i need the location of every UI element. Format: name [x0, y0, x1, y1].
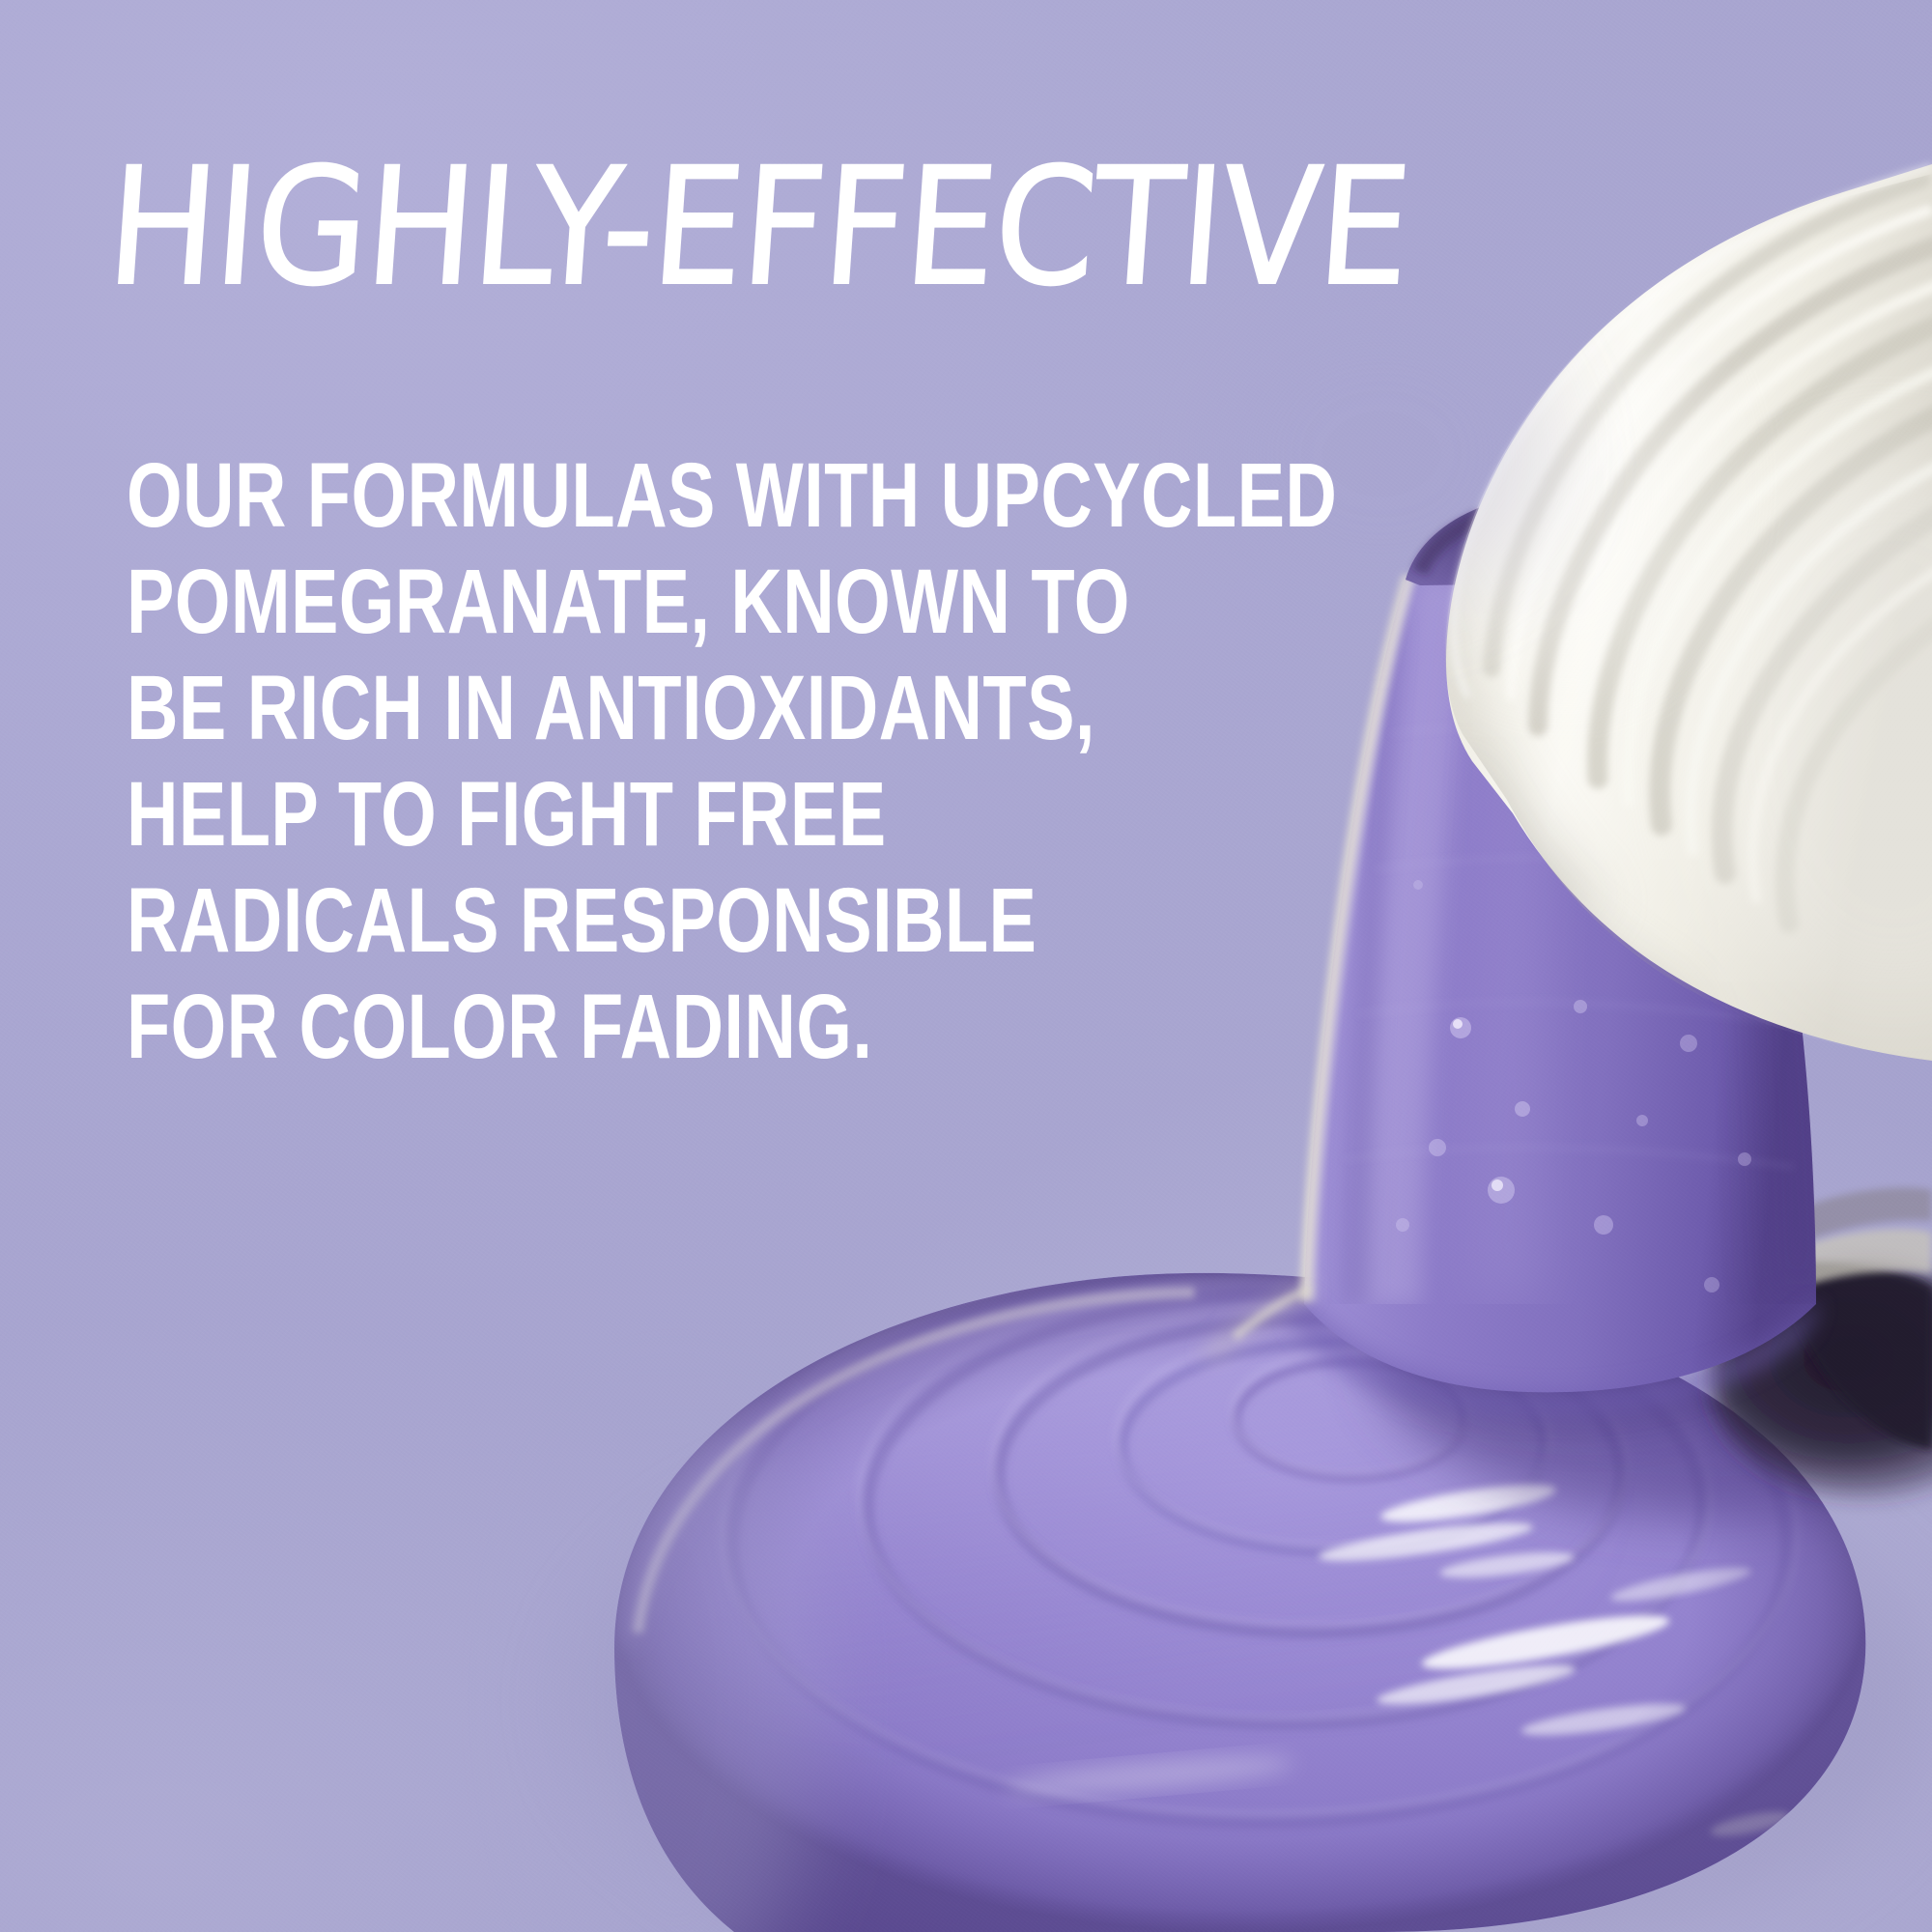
body-line: POMEGRANATE, KNOWN TO	[127, 549, 940, 655]
body-line: FOR COLOR FADING.	[127, 974, 940, 1080]
body-copy: OUR FORMULAS WITH UPCYCLED POMEGRANATE, …	[127, 442, 1170, 1080]
marketing-graphic-canvas: HIGHLY-EFFECTIVE OUR FORMULAS WITH UPCYC…	[0, 0, 1932, 1932]
body-line: RADICALS RESPONSIBLE	[127, 867, 940, 974]
page-title: HIGHLY-EFFECTIVE	[102, 147, 1621, 309]
body-line: HELP TO FIGHT FREE	[127, 761, 940, 867]
body-line: OUR FORMULAS WITH UPCYCLED	[127, 442, 940, 549]
body-line: BE RICH IN ANTIOXIDANTS,	[127, 655, 940, 761]
